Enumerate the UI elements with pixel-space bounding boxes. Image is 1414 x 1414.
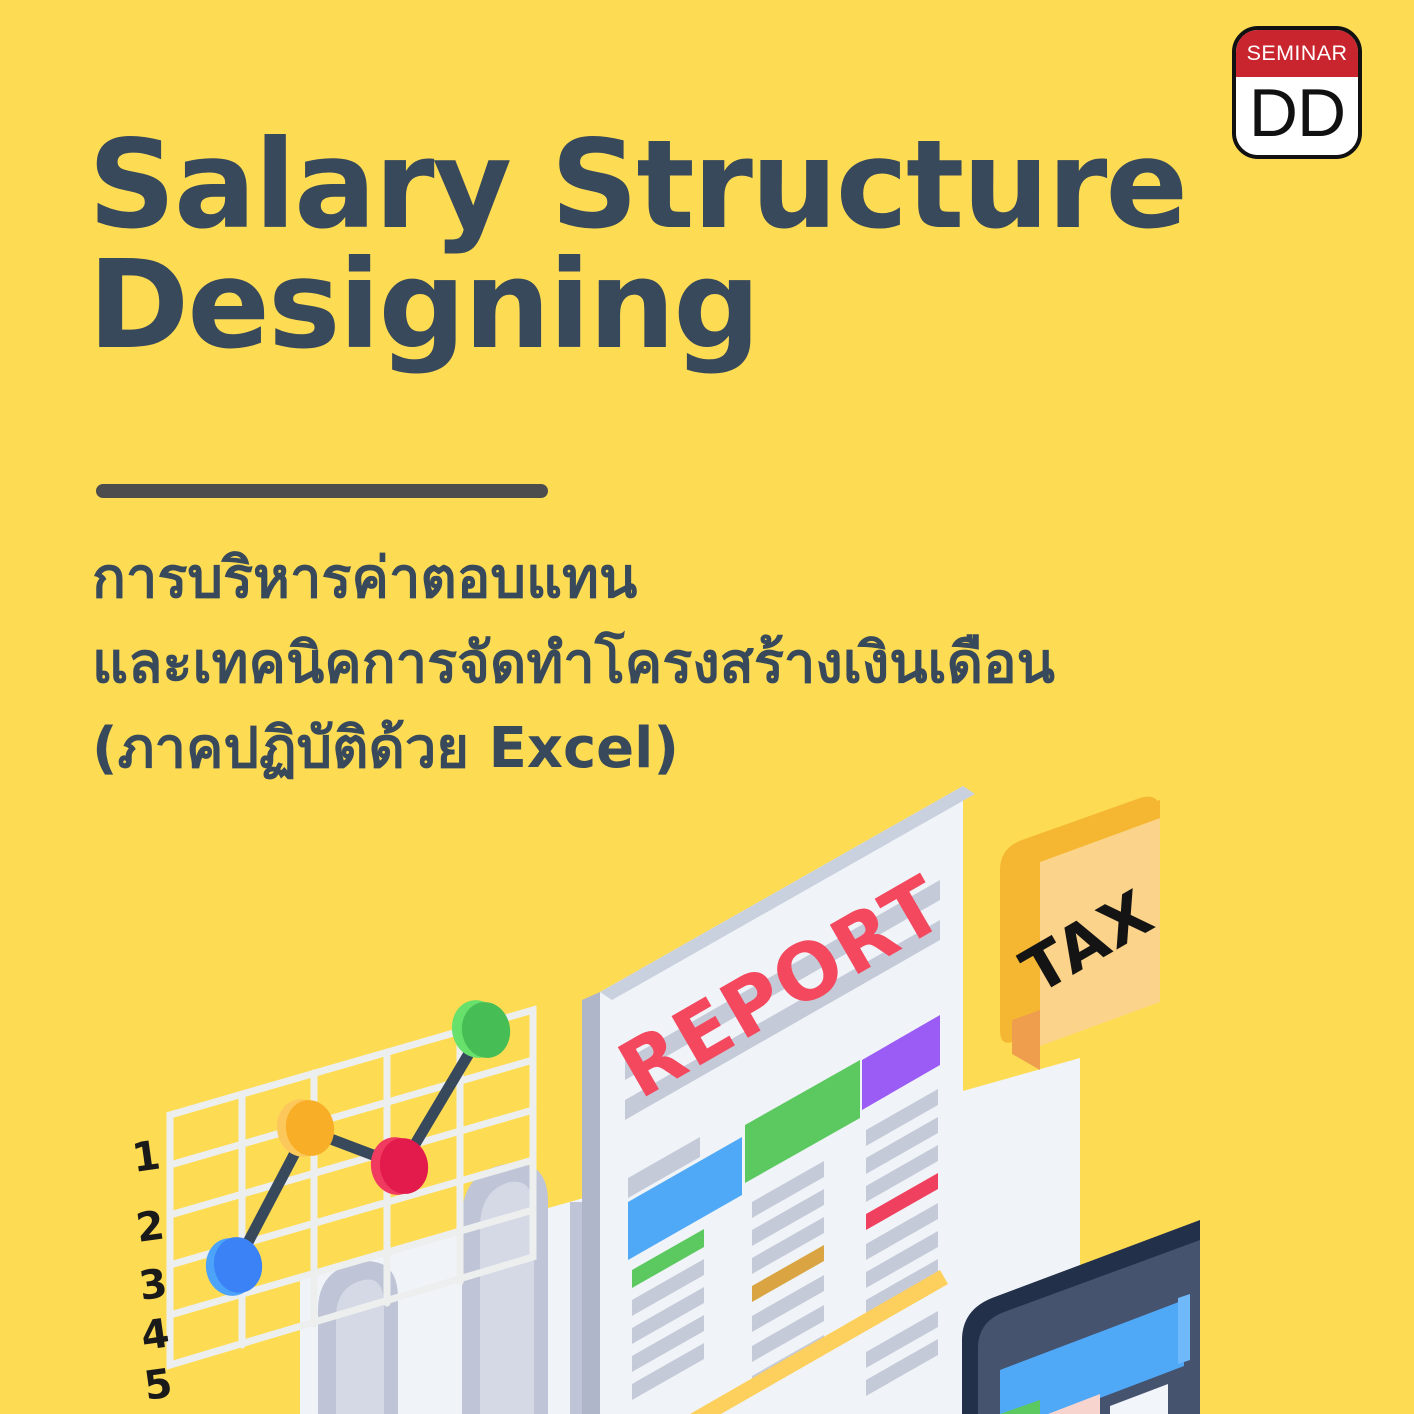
logo-banner: SEMINAR [1236, 30, 1358, 77]
page-title: Salary Structure Designing [88, 126, 1258, 365]
axis-tick-1: 1 [129, 1132, 163, 1181]
logo-mark-label: DD [1249, 85, 1345, 143]
chart-line-series [235, 1030, 483, 1267]
poster-canvas: SEMINAR DD Salary Structure Designing กา… [0, 0, 1414, 1414]
page-subtitle: การบริหารค่าตอบแทน และเทคนิคการจัดทำโครง… [92, 536, 1272, 791]
report-document[interactable]: REPORT [582, 786, 975, 1414]
logo-banner-label: SEMINAR [1247, 43, 1348, 65]
isometric-illustration: 1 2 3 4 5 [0, 770, 1414, 1414]
data-point-2[interactable] [272, 1095, 338, 1161]
tax-speech-bubble[interactable]: TAX [1000, 797, 1166, 1070]
page-subtitle-line-1: การบริหารค่าตอบแทน [92, 536, 1272, 621]
axis-tick-3: 3 [136, 1260, 170, 1309]
title-divider [96, 484, 548, 498]
page-subtitle-line-2: และเทคนิคการจัดทำโครงสร้างเงินเดือน [92, 621, 1272, 706]
axis-tick-2: 2 [133, 1202, 167, 1251]
page-title-line-2: Designing [88, 246, 1258, 366]
page-title-line-1: Salary Structure [88, 126, 1258, 246]
